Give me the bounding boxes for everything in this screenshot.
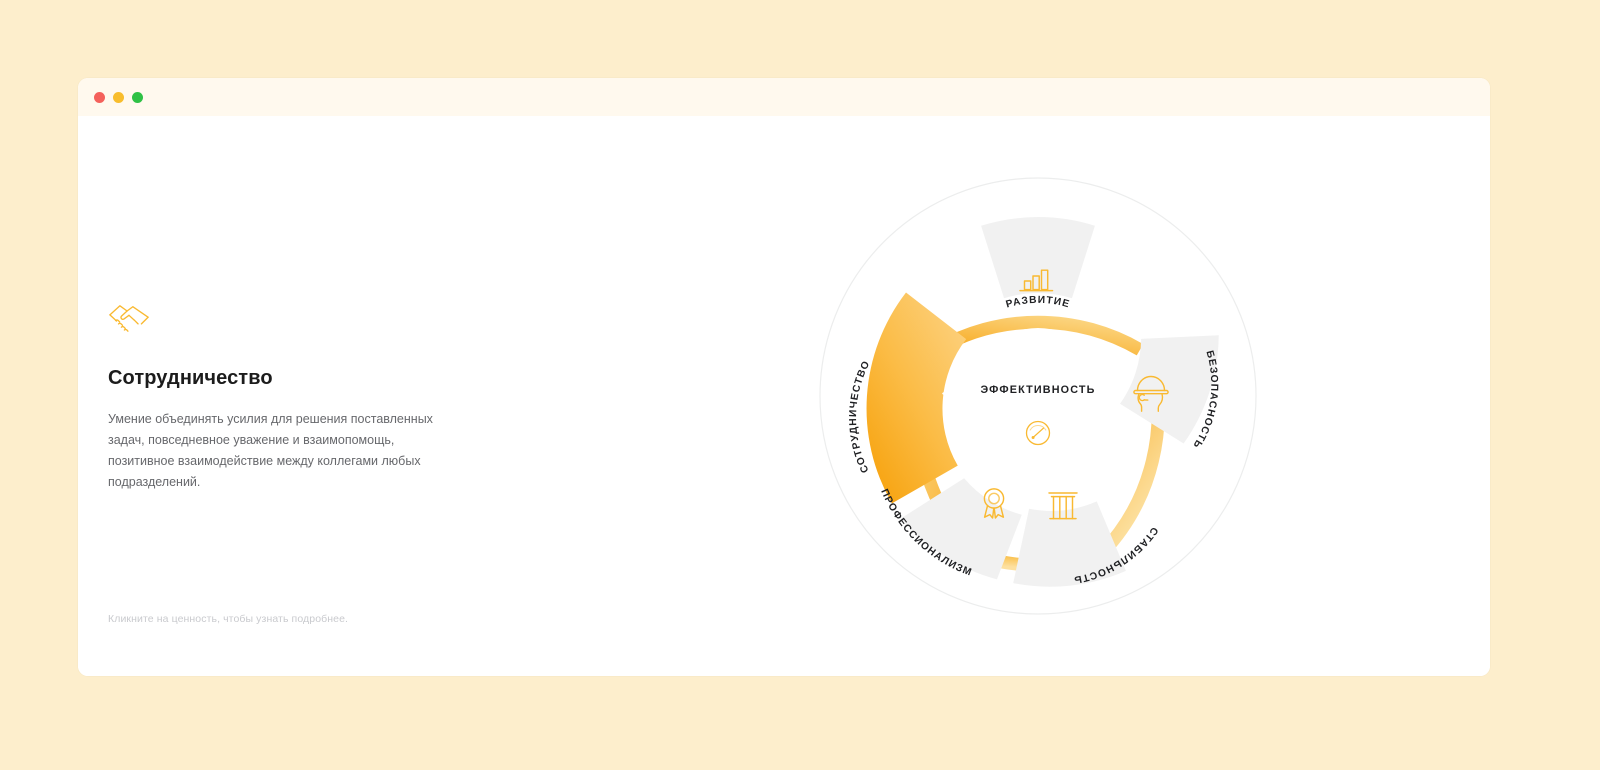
wheel-segment-razvitie[interactable] (981, 217, 1095, 298)
wheel-center-disc[interactable] (970, 328, 1106, 464)
values-wheel: ЭФФЕКТИВНОСТЬ (778, 136, 1298, 656)
minimize-window-button[interactable] (113, 92, 124, 103)
window-titlebar (78, 78, 1490, 116)
browser-window: Сотрудничество Умение объединять усилия … (78, 78, 1490, 676)
handshake-icon (108, 301, 150, 335)
wheel-center-label: ЭФФЕКТИВНОСТЬ (980, 384, 1095, 396)
page-content: Сотрудничество Умение объединять усилия … (78, 116, 1490, 676)
value-description: Умение объединять усилия для решения пос… (108, 409, 453, 493)
value-detail-panel: Сотрудничество Умение объединять усилия … (108, 301, 528, 493)
page-title: Сотрудничество (108, 367, 528, 390)
click-hint-text: Кликните на ценность, чтобы узнать подро… (108, 613, 348, 625)
maximize-window-button[interactable] (132, 92, 143, 103)
wheel-label-razvitie[interactable]: РАЗВИТИЕ (1005, 295, 1072, 311)
close-window-button[interactable] (94, 92, 105, 103)
